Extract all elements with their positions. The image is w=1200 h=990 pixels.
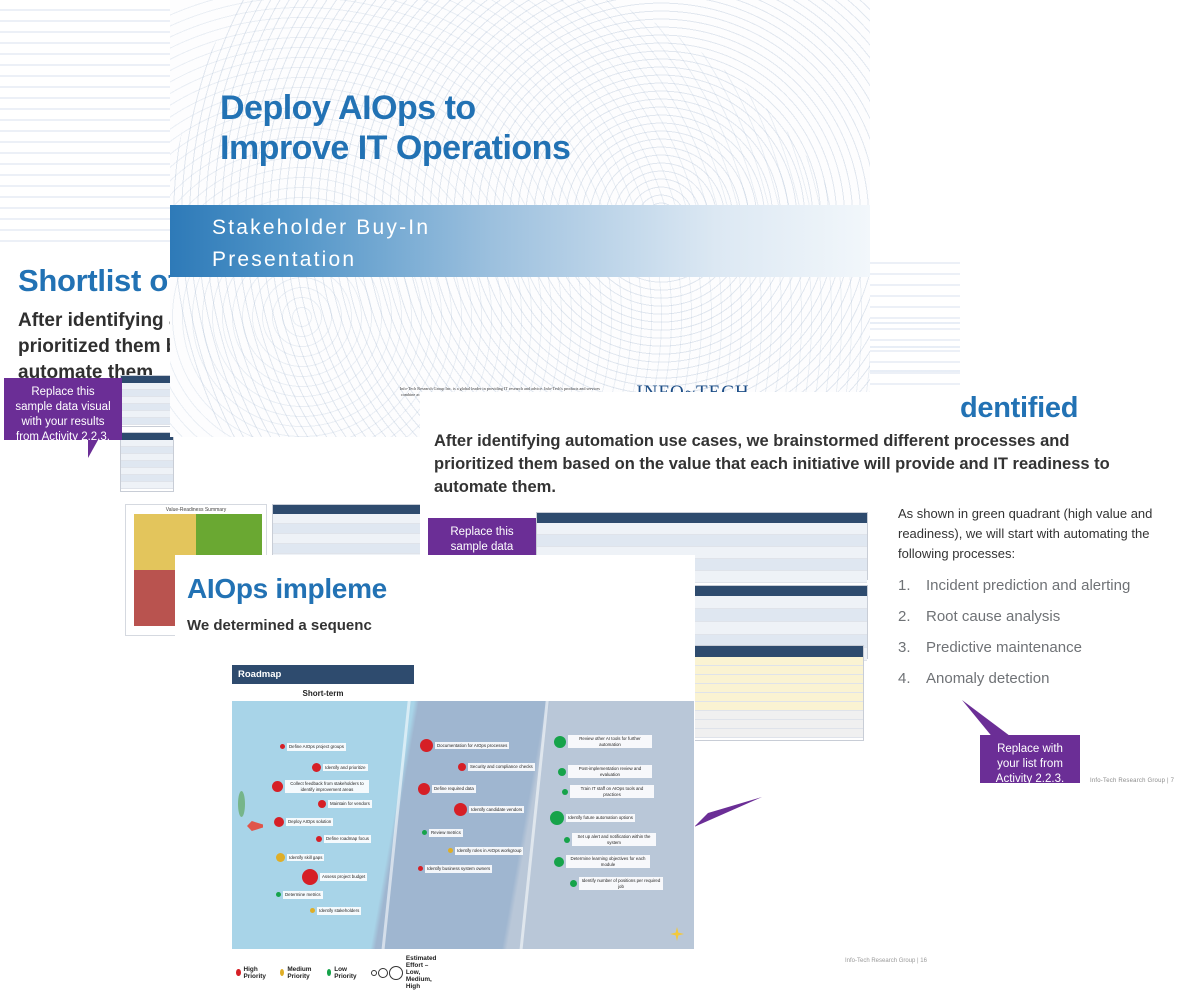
list-item: 3. Predictive maintenance bbox=[898, 636, 1188, 659]
roadmap-item-label: Identify business system owners bbox=[425, 865, 492, 873]
roadmap-item-label: Identify skill gaps bbox=[287, 854, 324, 862]
legend-item-high-priority: High Priority bbox=[236, 966, 268, 980]
roadmap-item-label: Train IT staff on AIOps tools and practi… bbox=[570, 785, 654, 798]
list-item-label: Predictive maintenance bbox=[926, 636, 1082, 659]
score-table-header bbox=[273, 505, 421, 514]
priority-dot-icon bbox=[310, 908, 315, 913]
roadmap-item-label: Review other AI tools for further automa… bbox=[568, 735, 652, 748]
score-table-header bbox=[691, 646, 863, 657]
list-item-label: Incident prediction and alerting bbox=[926, 574, 1130, 597]
roadmap-item-label: Collect feedback from stakeholders to id… bbox=[285, 780, 369, 793]
roadmap-item: Identify candidate vendors bbox=[454, 803, 524, 816]
presentation-subtitle: Stakeholder Buy-In Presentation bbox=[212, 212, 732, 276]
callout-shortlist: Replace this sample data visual with you… bbox=[4, 378, 122, 440]
priority-dot-icon bbox=[550, 811, 564, 825]
list-item: 4. Anomaly detection bbox=[898, 667, 1188, 690]
roadmap-item-label: Assess project budget bbox=[320, 873, 367, 881]
identified-title: dentified bbox=[960, 392, 1078, 425]
background-blank-right-2 bbox=[960, 258, 1200, 398]
roadmap-item-label: Deploy AIOps solution bbox=[286, 818, 333, 826]
roadmap-item-label: Review metrics bbox=[429, 829, 463, 837]
roadmap-item-label: Documentation for AIOps processes bbox=[435, 742, 509, 750]
identified-process-list: 1. Incident prediction and alerting 2. R… bbox=[898, 574, 1188, 690]
roadmap-item: Identify skill gaps bbox=[276, 853, 324, 862]
roadmap-divider bbox=[516, 701, 551, 949]
presentation-title-line-2: Improve IT Operations bbox=[220, 128, 570, 168]
priority-dot-icon bbox=[276, 892, 281, 897]
roadmap-item: Identify roles in AIOps workgroup bbox=[448, 847, 523, 855]
effort-rings-icon bbox=[371, 966, 403, 980]
presentation-subtitle-line-1: Stakeholder Buy-In bbox=[212, 212, 732, 244]
roadmap-header: Roadmap bbox=[232, 665, 414, 684]
priority-dot-icon bbox=[422, 830, 427, 835]
roadmap-item-label: Set up alert and notification within the… bbox=[572, 833, 656, 846]
legend-item-low-priority: Low Priority bbox=[327, 966, 359, 980]
roadmap-item-label: Determine learning objectives for each m… bbox=[566, 855, 650, 868]
roadmap-star-icon bbox=[670, 927, 684, 941]
list-item-number: 3. bbox=[898, 636, 912, 659]
priority-dot-icon bbox=[418, 866, 423, 871]
roadmap-phase-label: Short-term bbox=[232, 689, 414, 698]
list-item-number: 2. bbox=[898, 605, 912, 628]
priority-dot-icon bbox=[554, 736, 566, 748]
priority-dot-icon bbox=[274, 817, 284, 827]
priority-dot-icon bbox=[454, 803, 467, 816]
legend-dot-icon bbox=[236, 969, 241, 976]
legend-dot-icon bbox=[280, 969, 284, 976]
roadmap-item-label: Determine metrics bbox=[283, 891, 323, 899]
callout-shortlist-text: Replace this sample data visual with you… bbox=[15, 386, 110, 443]
shortlist-mini-table-2 bbox=[120, 432, 174, 492]
aiops-body: We determined a sequenc bbox=[187, 617, 372, 634]
list-item: 1. Incident prediction and alerting bbox=[898, 574, 1188, 597]
legend-item-medium-priority: Medium Priority bbox=[280, 966, 314, 980]
roadmap-item-label: Identify and prioritize bbox=[323, 764, 368, 772]
mini-table-header bbox=[121, 376, 173, 383]
roadmap-item: Maintain for vendors bbox=[318, 800, 372, 808]
roadmap-item: Define required data bbox=[418, 783, 476, 795]
background-blank-right bbox=[870, 0, 1200, 260]
list-item-label: Root cause analysis bbox=[926, 605, 1060, 628]
roadmap-item-label: Define AIOps project groups bbox=[287, 743, 346, 751]
priority-dot-icon bbox=[562, 789, 568, 795]
roadmap-item: Set up alert and notification within the… bbox=[564, 833, 656, 846]
roadmap-rocket-icon bbox=[247, 821, 263, 831]
roadmap-item: Security and compliance checks bbox=[458, 763, 535, 771]
roadmap-item: Collect feedback from stakeholders to id… bbox=[272, 780, 369, 793]
roadmap-item: Deploy AIOps solution bbox=[274, 817, 333, 827]
list-item: 2. Root cause analysis bbox=[898, 605, 1188, 628]
priority-dot-icon bbox=[420, 739, 433, 752]
roadmap-item-label: Define roadmap focus bbox=[324, 835, 371, 843]
roadmap-item: Identify stakeholders bbox=[310, 907, 361, 915]
roadmap-item: Determine learning objectives for each m… bbox=[554, 855, 650, 868]
roadmap-item-label: Post-implementation review and evaluatio… bbox=[568, 765, 652, 778]
mini-table-header bbox=[537, 513, 867, 523]
aiops-title: AIOps impleme bbox=[187, 573, 387, 605]
roadmap-item: Review metrics bbox=[422, 829, 463, 837]
list-item-number: 1. bbox=[898, 574, 912, 597]
roadmap-item: Identify number of positions per require… bbox=[570, 877, 663, 890]
callout-tail-icon bbox=[88, 440, 106, 458]
priority-dot-icon bbox=[272, 781, 283, 792]
priority-dot-icon bbox=[448, 848, 453, 853]
roadmap-item-label: Identify number of positions per require… bbox=[579, 877, 663, 890]
roadmap-divider bbox=[378, 701, 413, 949]
identified-right-column: As shown in green quadrant (high value a… bbox=[898, 504, 1188, 698]
callout-identified-list-text: Replace with your list from Activity 2.2… bbox=[996, 743, 1064, 785]
list-item-label: Anomaly detection bbox=[926, 667, 1049, 690]
shortlist-mini-table-1 bbox=[120, 375, 174, 427]
priority-dot-icon bbox=[276, 853, 285, 862]
presentation-title: Deploy AIOps to Improve IT Operations bbox=[220, 88, 570, 168]
use-case-score-table bbox=[690, 645, 864, 741]
identified-footer: Info-Tech Research Group | 7 bbox=[1090, 778, 1192, 977]
roadmap-item-label: Identify future automation options bbox=[566, 814, 635, 822]
roadmap-item: Identify future automation options bbox=[550, 811, 635, 825]
roadmap-item-label: Define required data bbox=[432, 785, 476, 793]
roadmap-item: Review other AI tools for further automa… bbox=[554, 735, 652, 748]
slide-aiops-implementation[interactable]: AIOps impleme We determined a sequenc Ro… bbox=[175, 555, 695, 985]
list-item-number: 4. bbox=[898, 667, 912, 690]
background-blank-bottom-left bbox=[0, 640, 180, 985]
priority-dot-icon bbox=[316, 836, 322, 842]
roadmap-item: Post-implementation review and evaluatio… bbox=[558, 765, 652, 778]
callout-arrow-icon bbox=[960, 698, 1020, 743]
roadmap-item: Define AIOps project groups bbox=[280, 743, 346, 751]
presentation-title-line-1: Deploy AIOps to bbox=[220, 88, 570, 128]
identified-lead-text: As shown in green quadrant (high value a… bbox=[898, 504, 1188, 564]
priority-dot-icon bbox=[564, 837, 570, 843]
roadmap: Roadmap Short-term Define AIOps project … bbox=[232, 665, 414, 990]
priority-dot-icon bbox=[280, 744, 285, 749]
mini-table-header bbox=[121, 433, 173, 440]
priority-dot-icon bbox=[570, 880, 577, 887]
priority-dot-icon bbox=[312, 763, 321, 772]
priority-dot-icon bbox=[302, 869, 318, 885]
priority-dot-icon bbox=[554, 857, 564, 867]
roadmap-item-label: Maintain for vendors bbox=[328, 800, 372, 808]
roadmap-item-label: Identify roles in AIOps workgroup bbox=[455, 847, 523, 855]
quadrant-chart-title: Value-Readiness Summary bbox=[126, 505, 266, 514]
roadmap-island-icon bbox=[238, 791, 245, 817]
aiops-footer: Info-Tech Research Group | 16 bbox=[845, 958, 1200, 979]
roadmap-item-label: Identify candidate vendors bbox=[469, 806, 524, 814]
legend-label: Medium Priority bbox=[287, 966, 314, 980]
roadmap-item: Train IT staff on AIOps tools and practi… bbox=[562, 785, 654, 798]
roadmap-item: Determine metrics bbox=[276, 891, 323, 899]
priority-dot-icon bbox=[458, 763, 466, 771]
roadmap-canvas: Define AIOps project groups Identify and… bbox=[232, 701, 694, 949]
priority-dot-icon bbox=[318, 800, 326, 808]
identified-body: After identifying automation use cases, … bbox=[434, 430, 1146, 499]
roadmap-item: Assess project budget bbox=[302, 869, 367, 885]
callout-arrow-2-icon bbox=[690, 795, 765, 835]
roadmap-item-label: Identify stakeholders bbox=[317, 907, 361, 915]
roadmap-item-label: Security and compliance checks bbox=[468, 763, 535, 771]
priority-dot-icon bbox=[558, 768, 566, 776]
roadmap-item: Identify business system owners bbox=[418, 865, 492, 873]
priority-dot-icon bbox=[418, 783, 430, 795]
presentation-subtitle-line-2: Presentation bbox=[212, 244, 732, 276]
legend-label: High Priority bbox=[244, 966, 269, 980]
roadmap-item: Identify and prioritize bbox=[312, 763, 368, 772]
slide-title[interactable]: Deploy AIOps to Improve IT Operations St… bbox=[170, 0, 870, 437]
roadmap-item: Define roadmap focus bbox=[316, 835, 371, 843]
legend-label: Low Priority bbox=[334, 966, 359, 980]
roadmap-item: Documentation for AIOps processes bbox=[420, 739, 509, 752]
legend-dot-icon bbox=[327, 969, 332, 976]
